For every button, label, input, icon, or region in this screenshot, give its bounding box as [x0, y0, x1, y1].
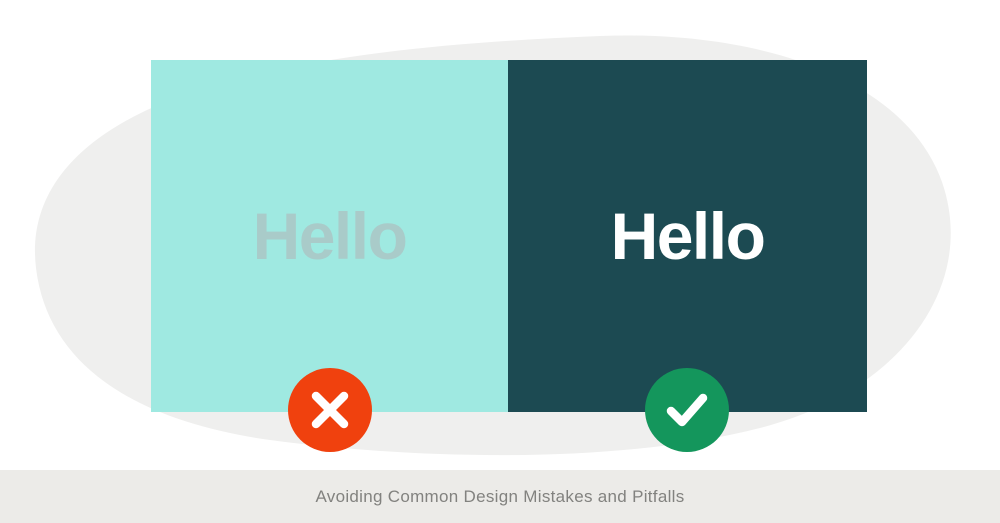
cross-icon [308, 388, 352, 432]
check-icon [663, 386, 711, 434]
panel-low-contrast-example: Hello [151, 60, 508, 412]
sample-word-high-contrast: Hello [611, 203, 765, 269]
caption-band: Avoiding Common Design Mistakes and Pitf… [0, 470, 1000, 523]
contrast-comparison-board: Hello Hello [151, 60, 867, 412]
panel-high-contrast-example: Hello [508, 60, 867, 412]
illustration-canvas: Hello Hello Avoiding Common Design Mista… [0, 0, 1000, 523]
badge-reject [288, 368, 372, 452]
sample-word-low-contrast: Hello [253, 203, 407, 269]
badge-approve [645, 368, 729, 452]
figure-caption: Avoiding Common Design Mistakes and Pitf… [315, 487, 684, 507]
